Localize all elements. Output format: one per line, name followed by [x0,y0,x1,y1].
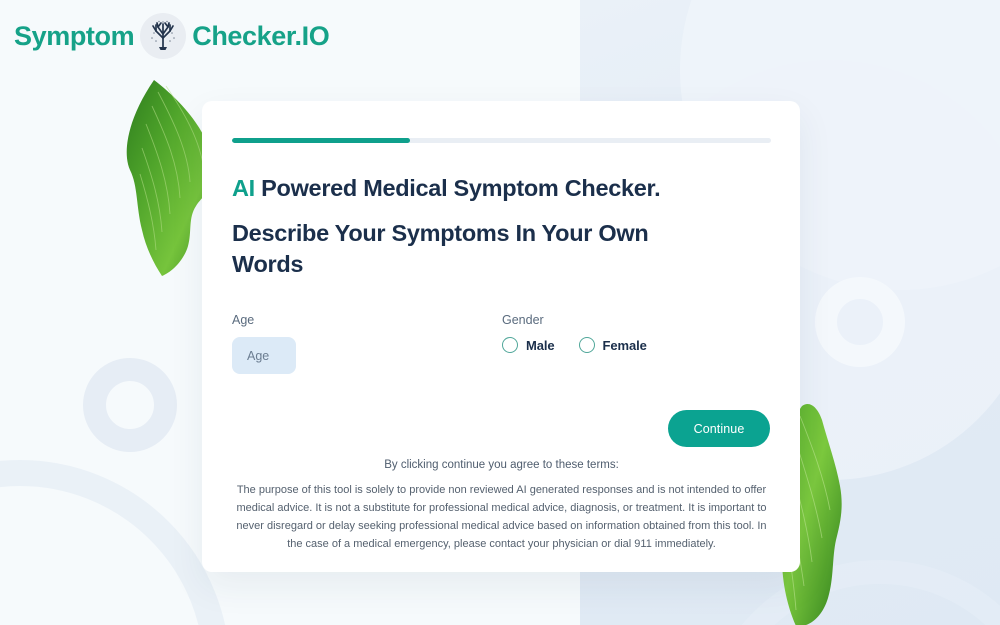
logo-text-checker: Checker.IO [192,23,329,50]
circle-ring-icon-right [815,277,905,367]
main-card: AI Powered Medical Symptom Checker. Desc… [202,101,800,572]
progress-bar-fill [232,138,410,143]
gender-radio-group: Male Female [502,337,771,353]
gender-option-male-label: Male [526,338,555,353]
heading-line-2: Describe Your Symptoms In Your Own Words [232,218,712,280]
heading-line-1: Powered Medical Symptom Checker. [255,175,660,201]
gender-field-group: Gender Male Female [502,313,771,374]
logo[interactable]: Symptom [14,13,329,59]
tree-icon [140,13,186,59]
gender-label: Gender [502,313,771,327]
page-title: AI Powered Medical Symptom Checker. Desc… [232,173,712,279]
age-field-group: Age [232,313,502,374]
age-label: Age [232,313,502,327]
gender-option-male[interactable]: Male [502,337,555,353]
terms-heading: By clicking continue you agree to these … [232,459,771,471]
terms-body: The purpose of this tool is solely to pr… [232,481,771,554]
radio-circle-icon-male[interactable] [502,337,518,353]
terms-section: By clicking continue you agree to these … [232,459,771,554]
form-row: Age Gender Male Female [232,313,771,374]
gender-option-female-label: Female [603,338,647,353]
progress-bar [232,138,771,143]
heading-accent: AI [232,175,255,201]
circle-ring-icon-left [83,358,177,452]
gender-option-female[interactable]: Female [579,337,647,353]
age-input[interactable] [232,337,296,374]
radio-circle-icon-female[interactable] [579,337,595,353]
top-bar: Symptom [0,0,1000,72]
logo-text-symptom: Symptom [14,23,134,50]
continue-button[interactable]: Continue [668,410,770,447]
